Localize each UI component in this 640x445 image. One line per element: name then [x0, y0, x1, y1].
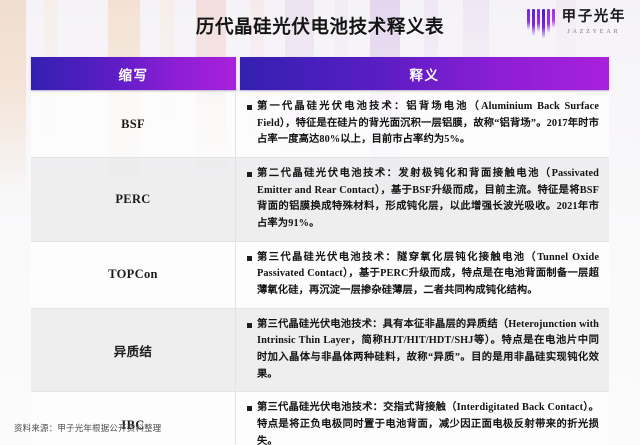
brand-wordmark: 甲子光年 JAZZYEAR — [562, 8, 626, 35]
bullet-item: 第三代晶硅光伏电池技术：交指式背接触（Interdigitated Back C… — [247, 400, 599, 445]
cell-definition: 第一代晶硅光伏电池技术：铝背场电池（Aluminium Back Surface… — [236, 91, 609, 157]
table-row: PERC 第二代晶硅光伏电池技术：发射极钝化和背面接触电池（Passivated… — [31, 157, 609, 241]
cell-abbreviation: PERC — [31, 158, 236, 241]
square-bullet-icon — [247, 256, 252, 261]
cell-definition: 第三代晶硅光伏电池技术：具有本征非晶层的异质结（Heterojunction w… — [236, 309, 609, 392]
column-header-abbreviation: 缩写 — [31, 57, 236, 90]
technology-table: 缩写 释义 BSF 第一代晶硅光伏电池技术：铝背场电池（Aluminium Ba… — [31, 57, 609, 445]
bullet-item: 第三代晶硅光伏电池技术：具有本征非晶层的异质结（Heterojunction w… — [247, 317, 599, 384]
cell-abbreviation: TOPCon — [31, 242, 236, 308]
cell-abbreviation: IBC — [31, 392, 236, 445]
cell-abbreviation: BSF — [31, 91, 236, 157]
slide-canvas: 历代晶硅光伏电池技术释义表 甲子光年 JAZZYEAR 缩写 释义 BS — [0, 0, 640, 445]
cell-definition: 第三代晶硅光伏电池技术：交指式背接触（Interdigitated Back C… — [236, 392, 609, 445]
bullet-item: 第三代晶硅光伏电池技术：隧穿氧化层钝化接触电池（Tunnel Oxide Pas… — [247, 250, 599, 300]
logo-bars-icon — [527, 8, 555, 39]
bullet-item: 第一代晶硅光伏电池技术：铝背场电池（Aluminium Back Surface… — [247, 99, 599, 149]
square-bullet-icon — [247, 406, 252, 411]
brand-name-en: JAZZYEAR — [567, 29, 620, 35]
square-bullet-icon — [247, 105, 252, 110]
table-row: BSF 第一代晶硅光伏电池技术：铝背场电池（Aluminium Back Sur… — [31, 90, 609, 157]
square-bullet-icon — [247, 323, 252, 328]
cell-abbreviation: 异质结 — [31, 309, 236, 392]
column-header-definition: 释义 — [240, 57, 609, 90]
definition-text: 第三代晶硅光伏电池技术：交指式背接触（Interdigitated Back C… — [257, 400, 599, 445]
definition-text: 第三代晶硅光伏电池技术：具有本征非晶层的异质结（Heterojunction w… — [257, 317, 599, 384]
square-bullet-icon — [247, 172, 252, 177]
table-body: BSF 第一代晶硅光伏电池技术：铝背场电池（Aluminium Back Sur… — [31, 90, 609, 445]
slide-header: 历代晶硅光伏电池技术释义表 甲子光年 JAZZYEAR — [0, 0, 640, 52]
bullet-item: 第二代晶硅光伏电池技术：发射极钝化和背面接触电池（Passivated Emit… — [247, 166, 599, 233]
source-note: 资料来源：甲子光年根据公开资料整理 — [14, 422, 161, 434]
table-header-row: 缩写 释义 — [31, 57, 609, 90]
table-row: IBC 第三代晶硅光伏电池技术：交指式背接触（Interdigitated Ba… — [31, 391, 609, 445]
brand-name-cn: 甲子光年 — [562, 10, 626, 25]
cell-definition: 第二代晶硅光伏电池技术：发射极钝化和背面接触电池（Passivated Emit… — [236, 158, 609, 241]
table-row: 异质结 第三代晶硅光伏电池技术：具有本征非晶层的异质结（Heterojuncti… — [31, 308, 609, 392]
definition-text: 第一代晶硅光伏电池技术：铝背场电池（Aluminium Back Surface… — [257, 99, 599, 149]
definition-text: 第二代晶硅光伏电池技术：发射极钝化和背面接触电池（Passivated Emit… — [257, 166, 599, 233]
brand-logo: 甲子光年 JAZZYEAR — [527, 8, 626, 39]
table-row: TOPCon 第三代晶硅光伏电池技术：隧穿氧化层钝化接触电池（Tunnel Ox… — [31, 241, 609, 308]
definition-text: 第三代晶硅光伏电池技术：隧穿氧化层钝化接触电池（Tunnel Oxide Pas… — [257, 250, 599, 300]
cell-definition: 第三代晶硅光伏电池技术：隧穿氧化层钝化接触电池（Tunnel Oxide Pas… — [236, 242, 609, 308]
